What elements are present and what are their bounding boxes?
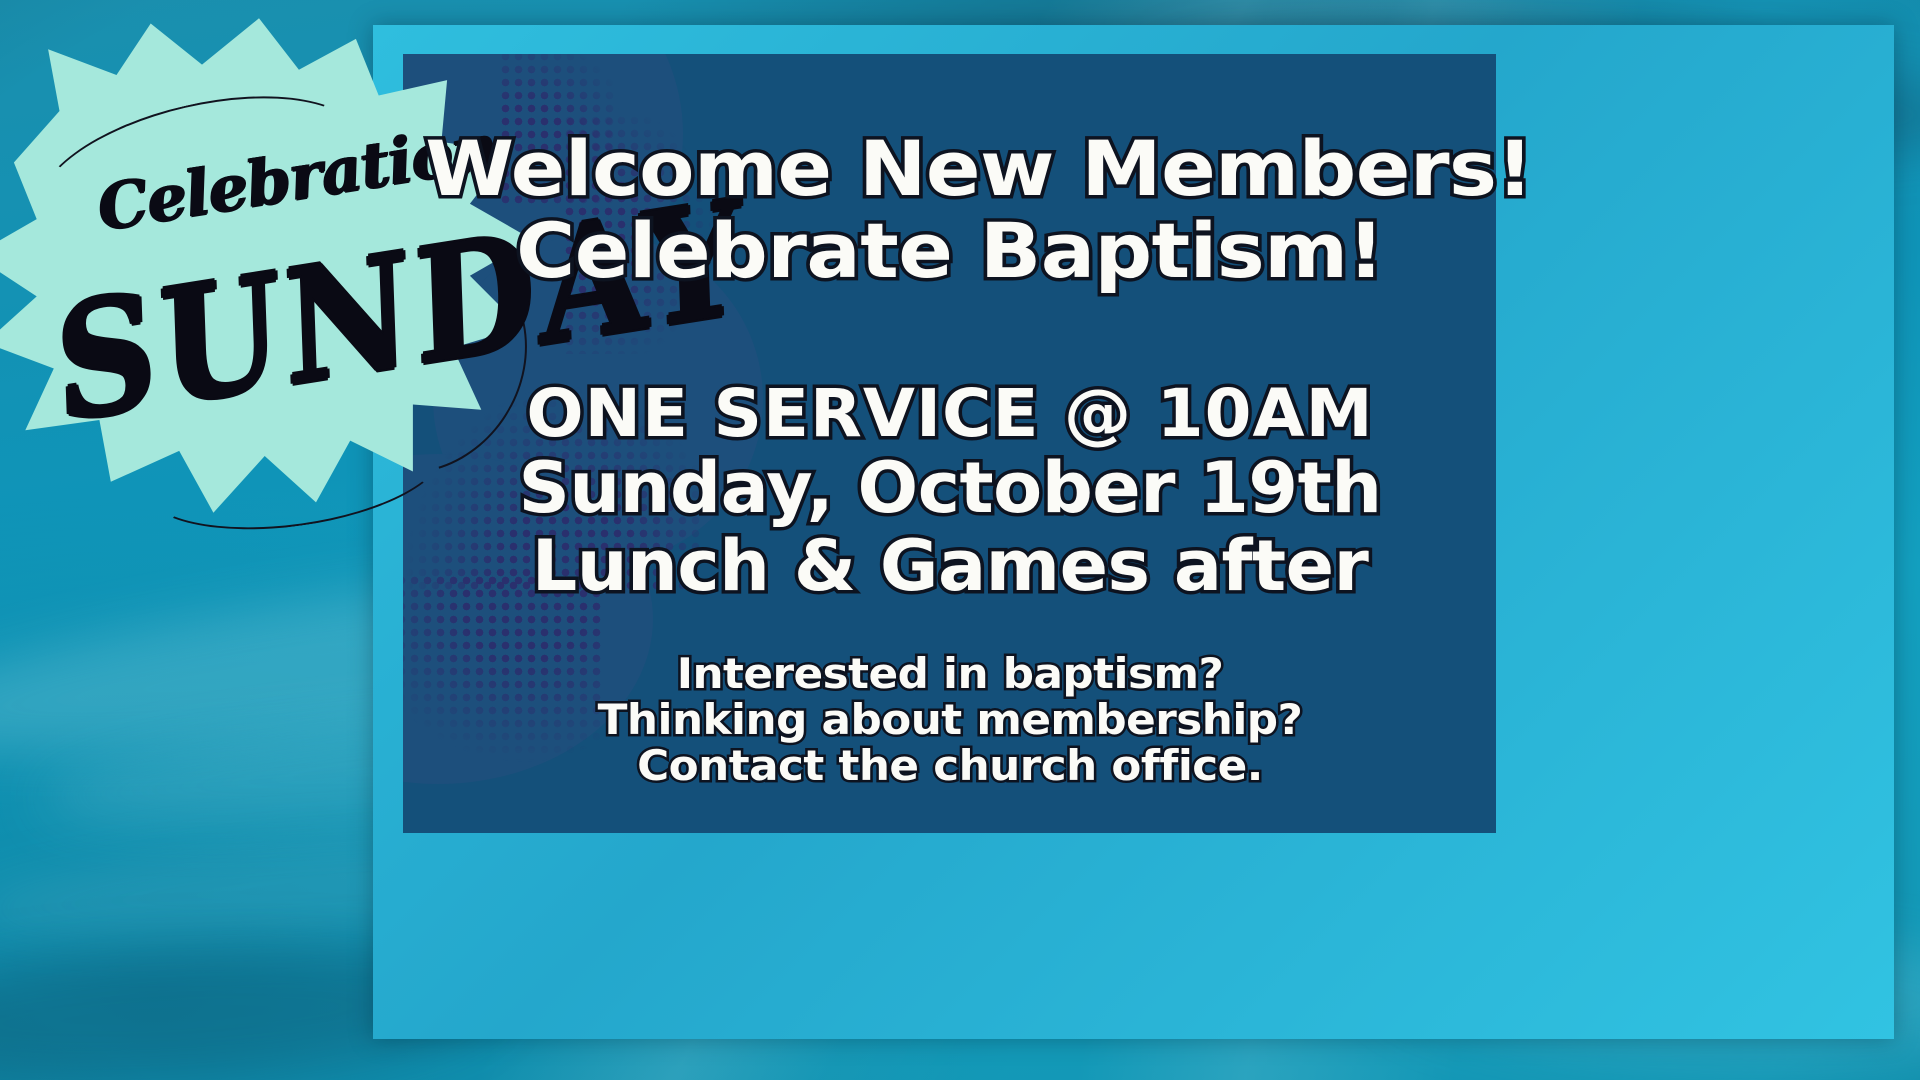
contact-line-2: Thinking about membership? (435, 699, 1465, 742)
event-service-time: ONE SERVICE @ 10AM (445, 380, 1455, 447)
event-date: Sunday, October 19th (445, 453, 1455, 524)
announcement-slide: Celebration SUNDAY Welcome New Members! … (0, 0, 1920, 1080)
event-details-block: ONE SERVICE @ 10AM Sunday, October 19th … (455, 380, 1445, 602)
contact-line-3: Contact the church office. (435, 745, 1465, 788)
event-after-activity: Lunch & Games after (445, 531, 1455, 602)
headline-line-1: Welcome New Members! (425, 130, 1474, 208)
contact-line-1: Interested in baptism? (435, 653, 1465, 696)
headline-block: Welcome New Members! Celebrate Baptism! (455, 130, 1445, 289)
headline-line-2: Celebrate Baptism! (425, 212, 1474, 290)
panel-text-content: Welcome New Members! Celebrate Baptism! … (455, 60, 1445, 830)
contact-block: Interested in baptism? Thinking about me… (455, 650, 1445, 787)
